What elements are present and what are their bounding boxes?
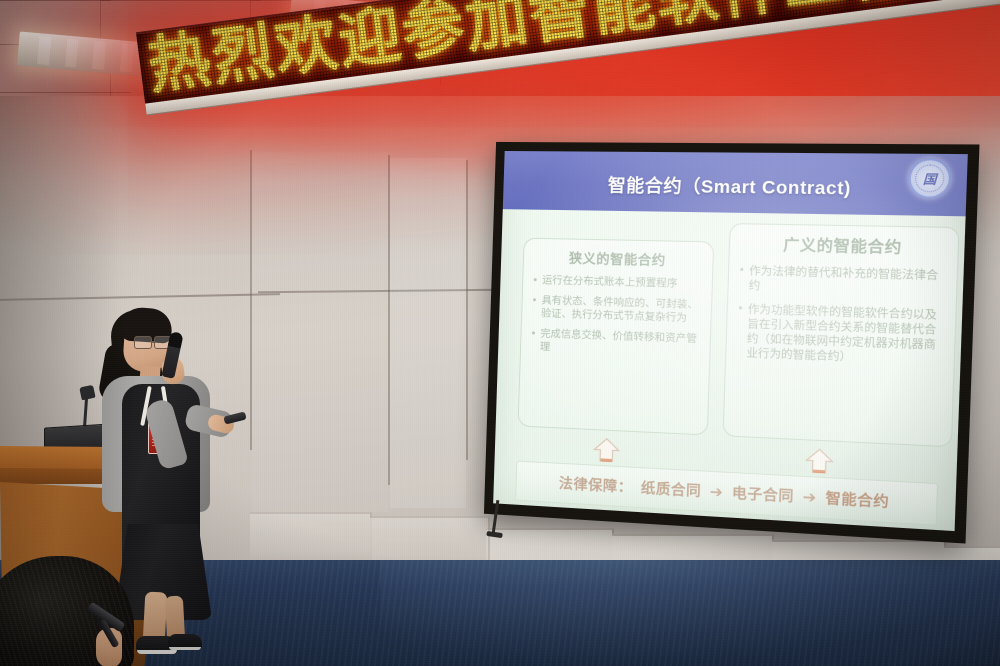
up-arrow-icon bbox=[593, 436, 620, 466]
slide-header: 智能合约（Smart Contract) 国 bbox=[503, 151, 968, 216]
legal-step-paper: 纸质合同 bbox=[641, 477, 702, 501]
bullet-item: • 作为法律的替代和补充的智能法律合约 bbox=[739, 264, 946, 299]
bullet-item: • 作为功能型软件的智能软件合约以及旨在引入新型合约关系的智能替代合约（如在物联… bbox=[737, 302, 945, 369]
glasses-icon bbox=[134, 336, 172, 348]
bullet-item: • 完成信息交换、价值转移和资产管理 bbox=[531, 327, 700, 360]
bullet-dot-icon: • bbox=[531, 327, 536, 354]
bullet-text: 运行在分布式账本上预置程序 bbox=[542, 274, 678, 292]
audience-member-foreground bbox=[0, 556, 168, 666]
bullet-dot-icon: • bbox=[533, 274, 537, 288]
bullet-text: 作为法律的替代和补充的智能法律合约 bbox=[748, 264, 945, 299]
bullet-item: • 具有状态、条件响应的、可封装、验证、执行分布式节点复杂行为 bbox=[532, 294, 701, 327]
broad-definition-heading: 广义的智能合约 bbox=[740, 233, 947, 259]
bullet-item: • 运行在分布式账本上预置程序 bbox=[533, 274, 701, 292]
bullet-dot-icon: • bbox=[737, 302, 743, 361]
legal-step-smart-contract: 智能合约 bbox=[825, 488, 889, 513]
bullet-text: 完成信息交换、价值转移和资产管理 bbox=[540, 327, 700, 360]
slide-title: 智能合约（Smart Contract) bbox=[607, 172, 851, 201]
arrow-right-icon: ➔ bbox=[802, 487, 817, 507]
bullet-dot-icon: • bbox=[739, 264, 744, 294]
slide-body: 狭义的智能合约 • 运行在分布式账本上预置程序 • 具有状态、条件响应的、可封装… bbox=[493, 209, 965, 531]
wall-seam bbox=[466, 160, 468, 460]
narrow-definition-box: 狭义的智能合约 • 运行在分布式账本上预置程序 • 具有状态、条件响应的、可封装… bbox=[518, 238, 715, 436]
legal-step-electronic: 电子合同 bbox=[732, 482, 795, 506]
conference-room-photo: 热烈欢迎参加智能软件工程研讨会的 智能合约（Smart Contract) 国 … bbox=[0, 0, 1000, 666]
legal-guarantee-bar: 法律保障： 纸质合同 ➔ 电子合同 ➔ 智能合约 bbox=[515, 460, 938, 525]
narrow-definition-heading: 狭义的智能合约 bbox=[534, 247, 703, 270]
bullet-dot-icon: • bbox=[532, 294, 537, 321]
legal-guarantee-label: 法律保障： bbox=[559, 473, 633, 497]
wall-base-panel bbox=[250, 512, 372, 566]
up-arrow-icon bbox=[805, 447, 834, 478]
projection-screen: 智能合约（Smart Contract) 国 狭义的智能合约 • 运行在分布式账… bbox=[484, 142, 980, 544]
arrow-right-icon: ➔ bbox=[709, 482, 723, 501]
presenter-shoe bbox=[168, 634, 202, 650]
bullet-text: 作为功能型软件的智能软件合约以及旨在引入新型合约关系的智能替代合约（如在物联网中… bbox=[746, 302, 944, 368]
bullet-text: 具有状态、条件响应的、可封装、验证、执行分布式节点复杂行为 bbox=[541, 294, 701, 326]
wall-panel bbox=[390, 158, 466, 508]
broad-definition-box: 广义的智能合约 • 作为法律的替代和补充的智能法律合约 • 作为功能型软件的智能… bbox=[722, 223, 959, 447]
slide: 智能合约（Smart Contract) 国 狭义的智能合约 • 运行在分布式账… bbox=[493, 151, 968, 531]
seal-label: 国 bbox=[923, 169, 937, 187]
institution-seal-icon: 国 bbox=[908, 158, 952, 199]
wall-panel bbox=[252, 152, 388, 512]
